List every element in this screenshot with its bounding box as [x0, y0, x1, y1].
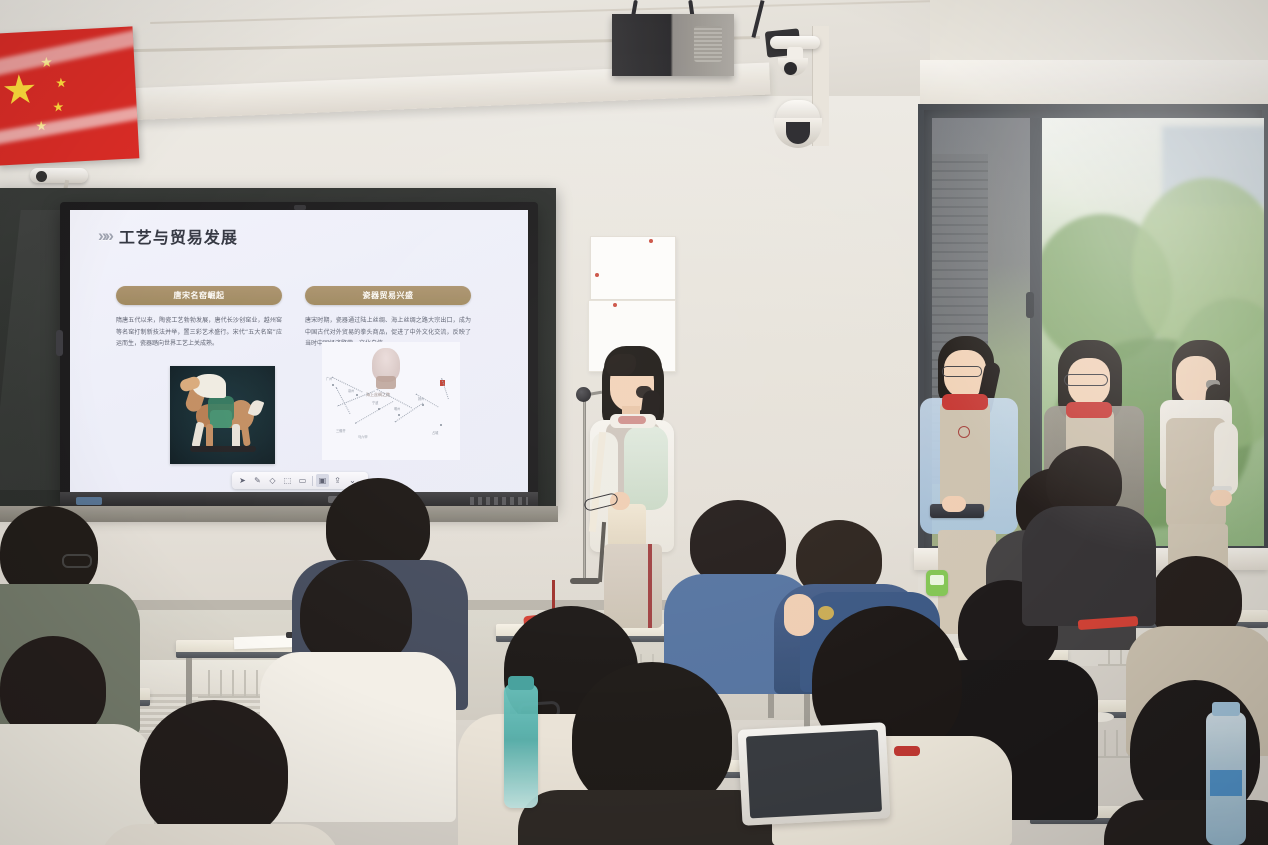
presentation-slide: »» 工艺与贸易发展 唐宋名窑崛起 隋唐五代以来，陶瓷工艺勃勃发展，唐代长沙创窑… [70, 210, 528, 492]
map-label: 泉州 [348, 388, 354, 393]
student-red-collar [942, 394, 988, 410]
student-presenter [576, 346, 686, 626]
person-shoulders [1022, 506, 1156, 626]
slide-column-right: 瓷器贸易兴盛 唐宋时期，瓷器通过陆上丝绸、海上丝绸之路大宗出口，成为中国古代对外… [305, 286, 471, 350]
bottle-cap[interactable] [1212, 702, 1240, 716]
wall-speaker-box [612, 14, 734, 76]
window-header-wall [930, 0, 1268, 66]
chinese-national-flag: ★ ★ ★ ★ ★ [0, 26, 139, 165]
screen-icon[interactable]: ▭ [296, 474, 309, 487]
tablet-on-stand[interactable] [738, 722, 891, 826]
glasses-icon [62, 554, 92, 568]
horse-tail [248, 398, 265, 417]
toolbar-separator [312, 476, 313, 486]
student-red-collar [894, 746, 920, 756]
student-hand [1210, 490, 1232, 506]
person-shoulders [100, 824, 340, 845]
map-node [356, 394, 358, 396]
tang-sancai-horse-photo [170, 366, 275, 464]
horse-leg [206, 424, 213, 448]
map-node [422, 404, 424, 406]
select-icon[interactable]: ⬚ [281, 474, 294, 487]
map-node [398, 414, 400, 416]
flag-star-small: ★ [55, 76, 67, 90]
flag-star-large: ★ [1, 69, 39, 111]
map-node [378, 408, 380, 410]
speaker-grill [694, 26, 722, 62]
slide-header: »» 工艺与贸易发展 [98, 224, 238, 248]
map-label: 占城 [432, 430, 438, 435]
bottle-cap[interactable] [508, 676, 534, 690]
person-shoulders [260, 652, 456, 822]
poster-marker [613, 303, 617, 307]
map-node [440, 424, 442, 426]
horse-base [190, 446, 256, 452]
slide-pill-left-label: 唐宋名窑崛起 [174, 290, 225, 301]
teal-water-bottle[interactable] [504, 684, 538, 808]
panel-logo [76, 497, 102, 505]
device-screen [930, 575, 944, 585]
slide-body-left: 隋唐五代以来，陶瓷工艺勃勃发展，唐代长沙创窑业，越州窑等名窑打制新技法并举，置三… [116, 315, 282, 350]
panel-screen[interactable]: »» 工艺与贸易发展 唐宋名窑崛起 隋唐五代以来，陶瓷工艺勃勃发展，唐代长沙创窑… [70, 210, 528, 492]
classroom-scene: ★ ★ ★ ★ ★ [0, 0, 1268, 845]
student-hand [942, 496, 966, 512]
ceramic-vase-base [376, 376, 396, 389]
map-label: 广州 [326, 376, 332, 381]
maritime-silk-road-map: 海上丝绸之路 广州 泉州 宁波 明州 扬州 [322, 342, 460, 460]
poster-marker [649, 239, 653, 243]
eraser-icon[interactable]: ◇ [266, 474, 279, 487]
ceiling-camera-left [30, 166, 94, 188]
map-label: 扬州 [418, 396, 424, 401]
panel-ports [470, 497, 528, 505]
map-label: 三佛齐 [336, 428, 346, 433]
presenter-trousers [604, 544, 662, 628]
presenter-canvas-bag [608, 504, 646, 548]
slide-pill-right: 瓷器贸易兴盛 [305, 286, 471, 305]
camera-lens-icon [784, 62, 797, 75]
dome-camera-lower [772, 100, 826, 148]
flag-star-small: ★ [52, 100, 64, 114]
bottle-label [1210, 770, 1242, 796]
tablet-screen[interactable] [746, 730, 882, 819]
student-red-collar [1066, 402, 1112, 418]
map-label: 明州 [394, 406, 400, 411]
page-icon[interactable]: ▣ [316, 474, 329, 487]
person-hand [784, 594, 814, 636]
green-handheld-device[interactable] [926, 570, 948, 596]
glasses-icon [1064, 374, 1108, 386]
chevron-right-icon: »» [98, 226, 111, 246]
poster-marker [595, 273, 599, 277]
wall-poster-upper [590, 236, 676, 300]
slide-column-left: 唐宋名窑崛起 隋唐五代以来，陶瓷工艺勃勃发展，唐代长沙创窑业，越州窑等名窑打制新… [116, 286, 282, 350]
map-route [441, 378, 449, 399]
student-arm [1214, 422, 1238, 496]
slide-pill-left: 唐宋名窑崛起 [116, 286, 282, 305]
map-node [332, 384, 334, 386]
school-emblem [958, 426, 970, 438]
presenter-bangs [606, 354, 636, 376]
glasses-icon [942, 366, 982, 377]
floral-motif [818, 606, 834, 620]
person-shoulders [518, 790, 778, 845]
dome-camera-upper [770, 36, 820, 76]
slide-pill-right-label: 瓷器贸易兴盛 [363, 290, 414, 301]
pen-icon[interactable]: ✎ [251, 474, 264, 487]
presenter-jacket-sleeve [624, 426, 668, 510]
presenter-trouser-stripe [648, 544, 652, 628]
person-head [140, 700, 288, 842]
panel-side-button[interactable] [56, 330, 63, 356]
horse-saddle-cloth [210, 410, 232, 428]
cursor-icon[interactable]: ➤ [236, 474, 249, 487]
presenter-inner-collar [618, 416, 646, 424]
share-icon[interactable]: ⇪ [331, 474, 344, 487]
window-handle[interactable] [1026, 292, 1034, 318]
map-label: 马六甲 [358, 434, 368, 439]
map-label: 宁波 [372, 400, 378, 405]
horse-leg [191, 421, 204, 448]
slide-title: 工艺与贸易发展 [119, 224, 238, 248]
camera-lens-icon [36, 171, 47, 182]
